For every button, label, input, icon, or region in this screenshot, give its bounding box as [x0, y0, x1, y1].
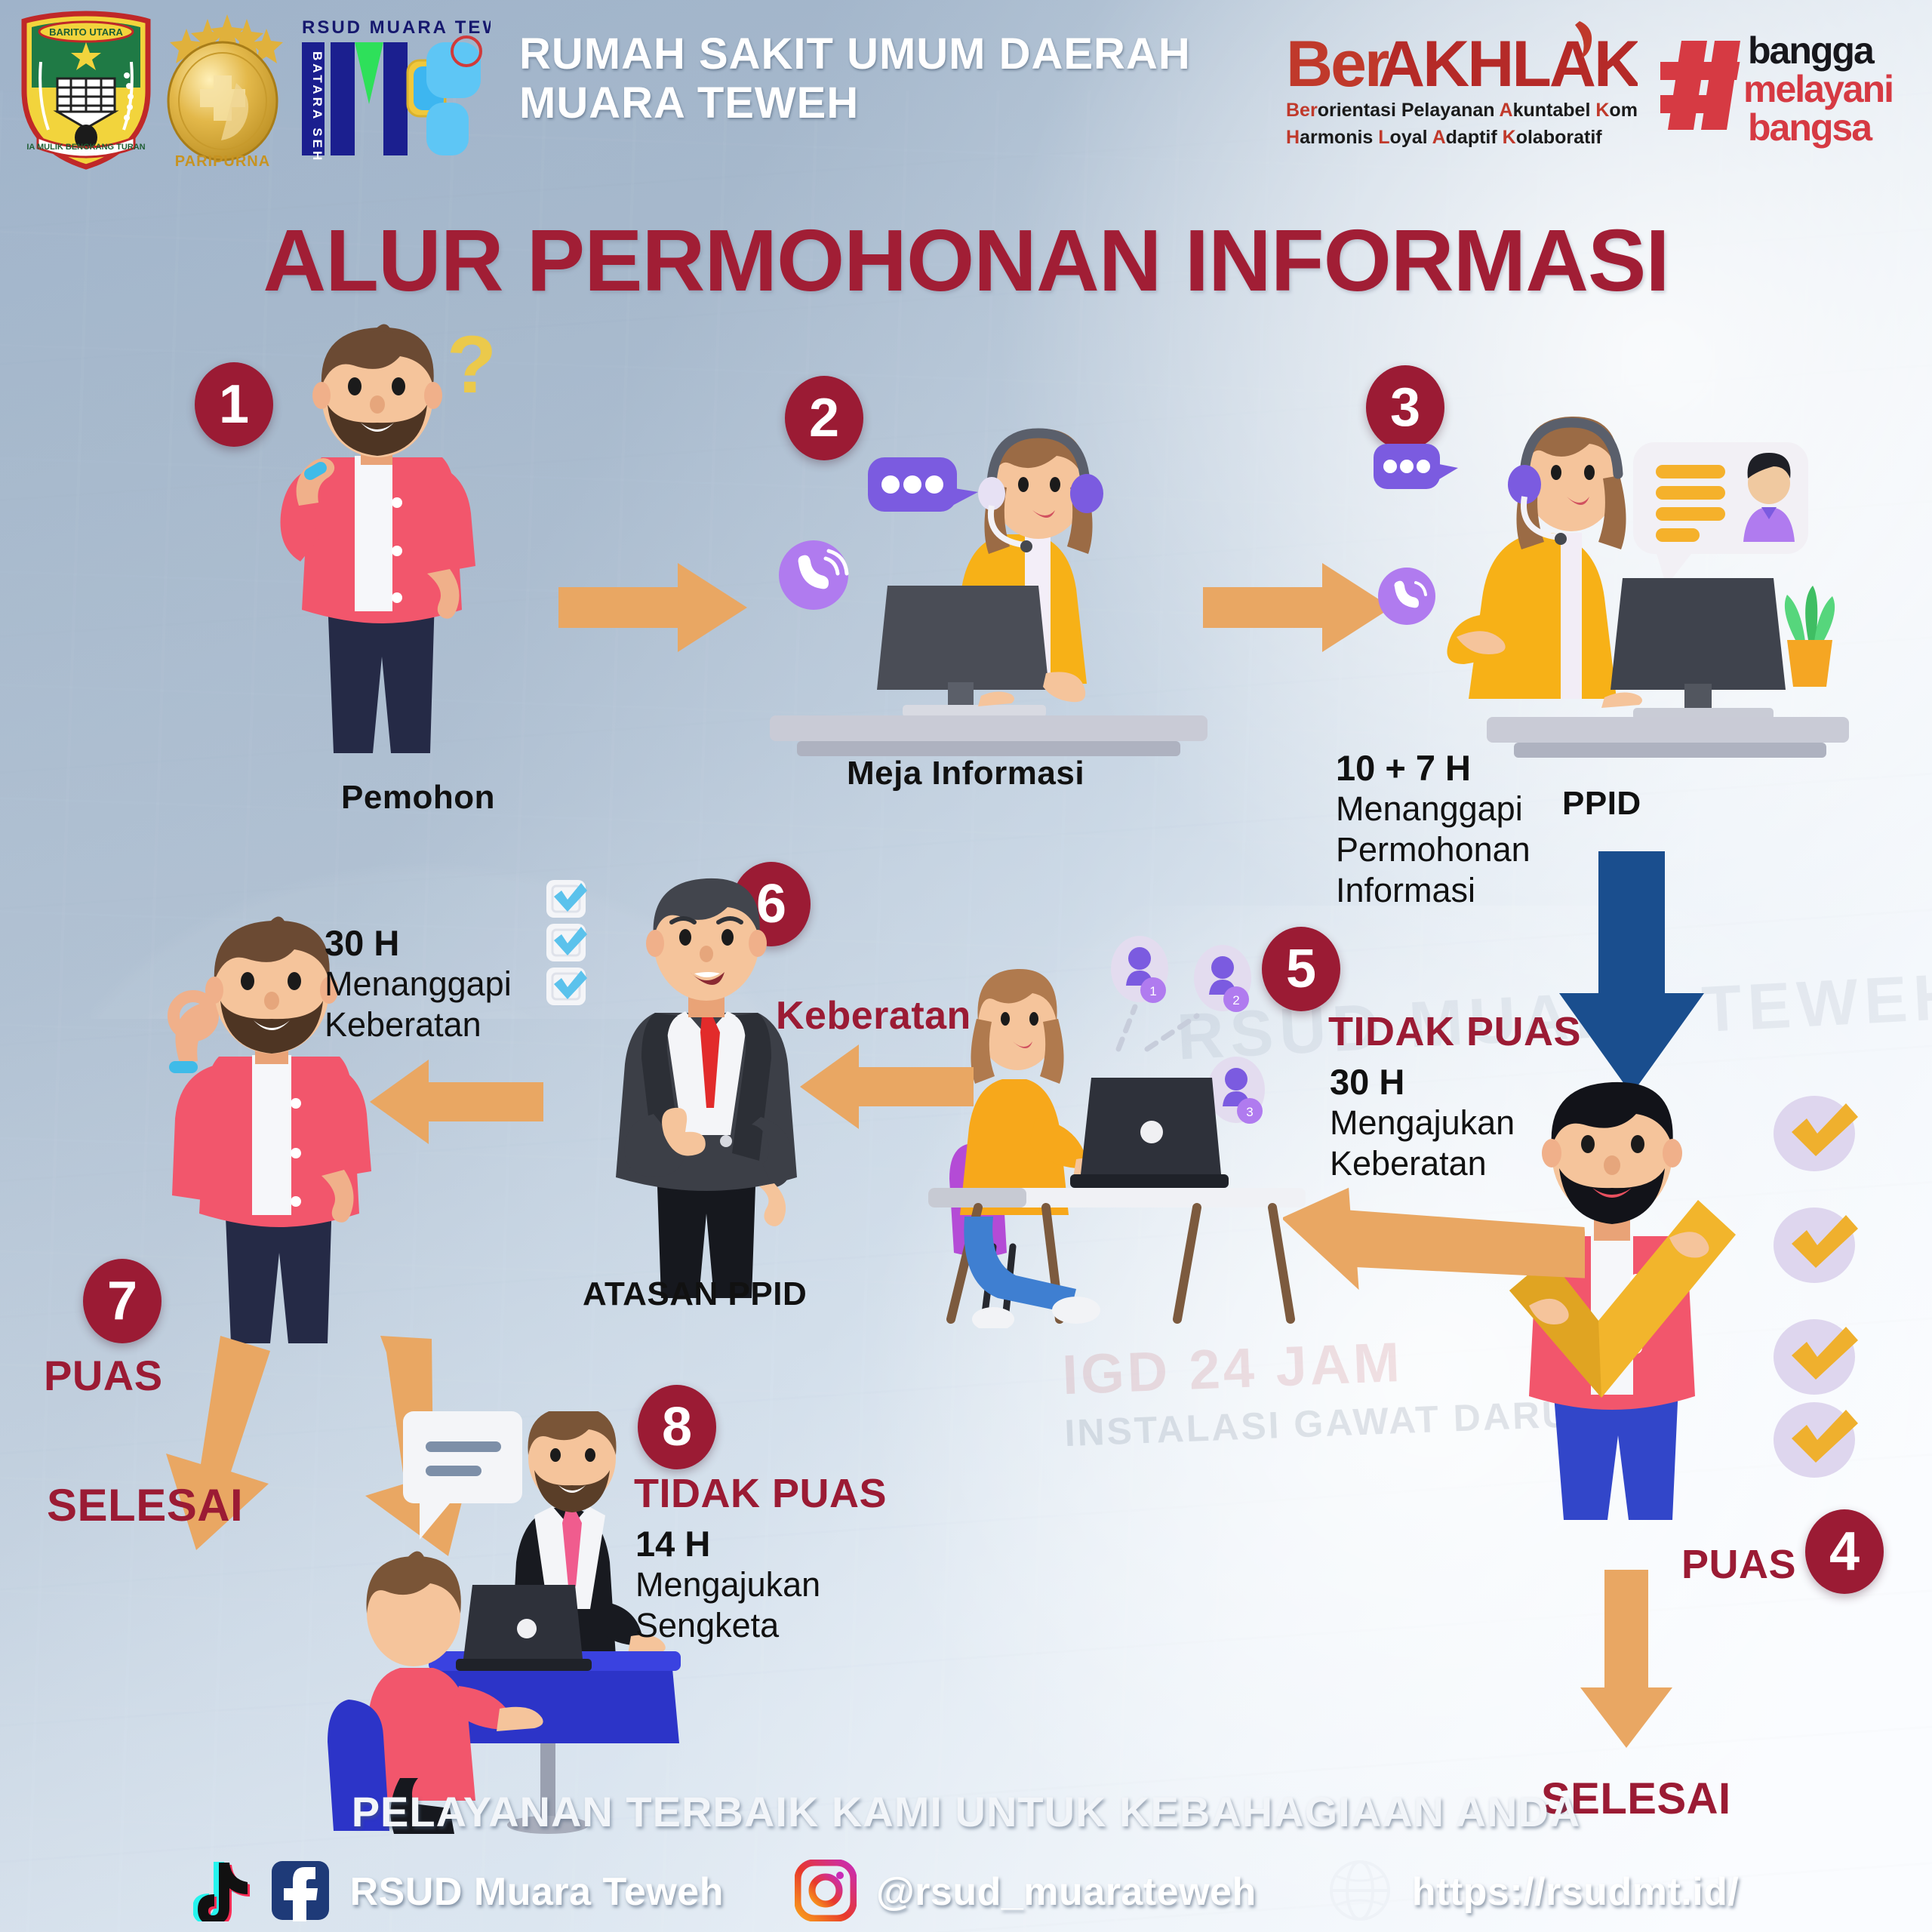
instagram-icon[interactable] [795, 1860, 857, 1925]
svg-text:melayani: melayani [1743, 68, 1893, 110]
step-1-caption: Pemohon [341, 779, 495, 817]
call-icon [779, 540, 848, 610]
svg-text:1: 1 [1149, 984, 1156, 998]
berakhlak-logo: Ber AKHLAK Berorientasi Pelayanan Akunta… [1283, 17, 1638, 152]
svg-text:Ber: Ber [1286, 28, 1389, 100]
step-3-duration: 10 + 7 H [1336, 747, 1585, 789]
facebook-label: RSUD Muara Teweh [350, 1869, 724, 1915]
svg-text:AKHLAK: AKHLAK [1378, 28, 1638, 100]
step-6-desc-line1: Menanggapi [325, 964, 574, 1004]
info-card-bubble-icon [1633, 442, 1808, 586]
step-5-text: 30 H Mengajukan Keberatan [1330, 1061, 1586, 1184]
globe-icon[interactable] [1327, 1858, 1392, 1927]
step-5-status: TIDAK PUAS [1328, 1008, 1581, 1055]
step-3-desc-line3: Informasi [1336, 870, 1585, 911]
svg-text:bangga: bangga [1748, 29, 1875, 72]
hospital-name-line1: RUMAH SAKIT UMUM DAERAH [519, 30, 1198, 79]
step-8-desc-line2: Sengketa [635, 1605, 900, 1646]
call-icon [1378, 568, 1435, 625]
step-4-badge: 4 [1805, 1509, 1884, 1594]
rsud-muara-teweh-logo: RSUD MUARA TEWEH BATARA SEHAT [294, 14, 491, 161]
svg-text:3: 3 [1246, 1105, 1253, 1119]
step-6-label: Keberatan [776, 993, 971, 1038]
step-6-duration: 30 H [325, 922, 574, 964]
arrow-step1-to-step2 [558, 558, 747, 660]
arrow-step4-to-selesai [1577, 1570, 1675, 1755]
facebook-icon[interactable] [270, 1860, 331, 1925]
step-3-text: 10 + 7 H Menanggapi Permohonan Informasi [1336, 747, 1585, 911]
chat-bubble-icon [1374, 444, 1458, 489]
svg-text:Harmonis Loyal Adaptif Kolabor: Harmonis Loyal Adaptif Kolaboratif [1286, 127, 1602, 148]
illustration-ppid [1374, 400, 1857, 770]
page-title: ALUR PERMOHONAN INFORMASI [0, 210, 1932, 311]
svg-text:Berorientasi Pelayanan Akuntab: Berorientasi Pelayanan Akuntabel Kompete… [1286, 100, 1638, 121]
footer-social-row: RSUD Muara Teweh @rsud_muarateweh [0, 1850, 1932, 1932]
svg-text:2: 2 [1232, 993, 1239, 1008]
paripurna-medal-icon: PARIPURNA [147, 11, 298, 173]
step-6-caption: ATASAN PPID [583, 1275, 807, 1313]
svg-text:?: ? [447, 318, 497, 410]
svg-text:IA MULIK BENGKANG TURAN: IA MULIK BENGKANG TURAN [26, 143, 145, 152]
step-5-desc-line2: Keberatan [1330, 1143, 1586, 1184]
step-8-text: 14 H Mengajukan Sengketa [635, 1523, 900, 1646]
illustration-pemohon: ? ? [249, 317, 566, 770]
step-4-status: PUAS [1681, 1541, 1796, 1588]
illustration-mengajukan-keberatan: 1 2 3 [921, 906, 1343, 1328]
speech-bubble-icon [403, 1411, 522, 1540]
step-3-desc-line1: Menanggapi [1336, 789, 1585, 829]
step-7-status: PUAS [44, 1351, 163, 1400]
tiktok-icon[interactable] [193, 1860, 251, 1925]
illustration-meja-informasi [755, 415, 1223, 770]
step-7-badge: 7 [83, 1259, 162, 1343]
bangga-melayani-bangsa-logo: bangga melayani bangsa [1660, 17, 1917, 152]
step-3-desc-line2: Permohonan [1336, 829, 1585, 870]
header: BARITO UTARA IA MULIK BENGKANG TURAN [0, 0, 1932, 177]
step-6-duration-text: 30 H Menanggapi Keberatan [325, 922, 574, 1045]
website-label: https://rsudmt.id/ [1412, 1869, 1740, 1915]
hospital-name: RUMAH SAKIT UMUM DAERAH MUARA TEWEH [519, 30, 1198, 128]
step-8-status: TIDAK PUAS [634, 1470, 887, 1517]
arrow-step2-to-step3 [1203, 558, 1392, 660]
chat-bubble-icon [868, 457, 978, 512]
instagram-label: @rsud_muarateweh [876, 1869, 1257, 1915]
svg-text:PARIPURNA: PARIPURNA [175, 153, 270, 170]
step-6-desc-line2: Keberatan [325, 1004, 574, 1045]
svg-text:RSUD MUARA TEWEH: RSUD MUARA TEWEH [302, 17, 491, 38]
step-5-desc-line1: Mengajukan [1330, 1103, 1586, 1143]
barito-utara-crest-icon: BARITO UTARA IA MULIK BENGKANG TURAN [18, 9, 154, 171]
svg-text:BARITO UTARA: BARITO UTARA [49, 26, 123, 38]
step-8-badge: 8 [638, 1385, 716, 1469]
step-7-outcome: SELESAI [47, 1479, 243, 1531]
hospital-name-line2: MUARA TEWEH [519, 79, 1198, 128]
svg-text:bangsa: bangsa [1748, 106, 1873, 149]
step-5-duration: 30 H [1330, 1061, 1586, 1103]
svg-text:BATARA SEHAT: BATARA SEHAT [310, 51, 325, 161]
step-8-duration: 14 H [635, 1523, 900, 1564]
infographic-poster: RSUD MUARA TEWEH IGD 24 JAM INSTALASI GA… [0, 0, 1932, 1932]
plant-icon [1785, 586, 1835, 687]
step-8-desc-line1: Mengajukan [635, 1564, 900, 1605]
check-bubble-list-icon [1774, 1096, 1858, 1478]
footer-tagline: PELAYANAN TERBAIK KAMI UNTUK KEBAHAGIAAN… [0, 1787, 1932, 1836]
step-3-caption: PPID [1562, 785, 1641, 823]
step-2-caption: Meja Informasi [847, 755, 1084, 792]
illustration-atasan-ppid [558, 875, 875, 1298]
